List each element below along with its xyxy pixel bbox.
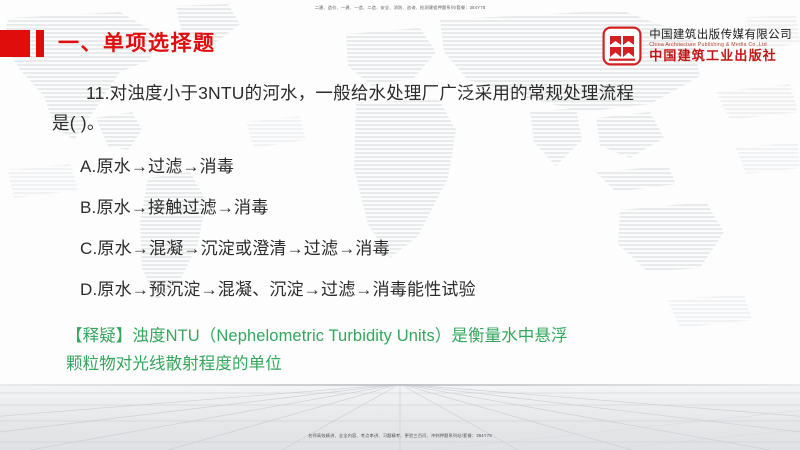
header-micro-text: 二建、造价、一建、一造、二造、安全、消防、咨询、检测课程押题系列/套餐：384Y… (0, 5, 800, 11)
publisher-emblem-icon (602, 26, 642, 66)
question-line-1-label: 11.对浊度小于3NTU的河水，一般给水处理厂广泛采用的常规处理流程 (86, 83, 634, 103)
publisher-company-en: China Architecture Publishing & Media Co… (649, 41, 792, 49)
slide-canvas: 二建、造价、一建、一造、二造、安全、消防、咨询、检测课程押题系列/套餐：384Y… (0, 0, 800, 450)
option-c[interactable]: C.原水→混凝→沉淀或澄清→过滤→消毒 (52, 228, 770, 269)
slide-content: 11.对浊度小于3NTU的河水，一般给水处理厂广泛采用的常规处理流程 是( )。… (52, 78, 770, 378)
option-a[interactable]: A.原水→过滤→消毒 (52, 146, 770, 187)
explanation-line-1: 【释疑】浊度NTU（Nephelometric Turbidity Units）… (66, 322, 770, 350)
options-list: A.原水→过滤→消毒 B.原水→接触过滤→消毒 C.原水→混凝→沉淀或澄清→过滤… (52, 146, 770, 310)
publisher-imprint-cn: 中国建筑工业出版社 (649, 49, 792, 65)
explanation-block: 【释疑】浊度NTU（Nephelometric Turbidity Units）… (52, 322, 770, 378)
publisher-logo: 中国建筑出版传媒有限公司 China Architecture Publishi… (602, 24, 792, 68)
section-title-label: 一、单项选择题 (58, 30, 216, 57)
section-title: 一、单项选择题 (0, 28, 216, 58)
question-line-1: 11.对浊度小于3NTU的河水，一般给水处理厂广泛采用的常规处理流程 (52, 78, 770, 108)
title-bar-decoration (36, 30, 44, 57)
option-d[interactable]: D.原水→预沉淀→混凝、沉淀→过滤→消毒能性试验 (52, 269, 770, 310)
perspective-floor (0, 384, 800, 450)
publisher-company-cn: 中国建筑出版传媒有限公司 (649, 28, 792, 41)
option-b[interactable]: B.原水→接触过滤→消毒 (52, 187, 770, 228)
footer-micro-text: 名师高效精讲、全全内容、考点串讲、习题精考、更验三百问、冲刺押题系列站/套餐：3… (0, 433, 800, 439)
question-text: 11.对浊度小于3NTU的河水，一般给水处理厂广泛采用的常规处理流程 是( )。 (52, 78, 770, 138)
title-block-decoration (0, 30, 30, 57)
floor-horizon-line (0, 384, 800, 386)
publisher-logo-text: 中国建筑出版传媒有限公司 China Architecture Publishi… (649, 28, 792, 65)
explanation-line-2: 颗粒物对光线散射程度的单位 (66, 350, 770, 378)
question-line-2: 是( )。 (52, 108, 770, 138)
